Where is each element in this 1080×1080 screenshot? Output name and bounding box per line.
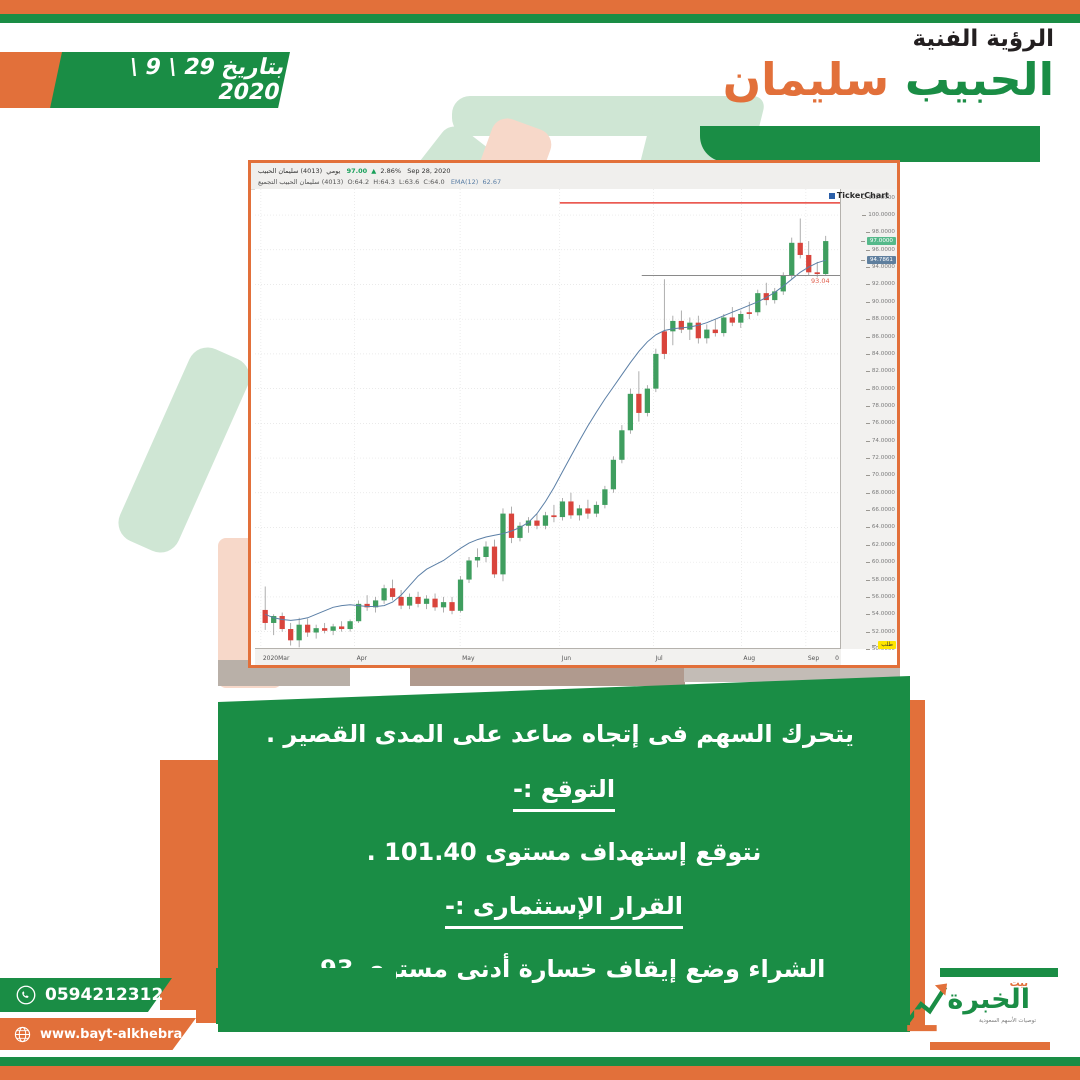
- date-tick: 2020Mar: [263, 655, 290, 662]
- analysis-label-decision-text: القرار الإستثمارى :-: [445, 892, 683, 929]
- brand-logo: بيت الخبرة توصيات الأسهم السعودية: [898, 972, 1058, 1058]
- chart-close: C:64.0: [423, 178, 444, 186]
- axis-corner-value: 0: [835, 655, 839, 662]
- price-tick: 52.0000: [872, 629, 895, 635]
- page-title: الرؤية الفنية الحبيب سليمان: [723, 28, 1054, 102]
- price-tick: 98.0000: [872, 229, 895, 235]
- chart-low: L:63.6: [399, 178, 419, 186]
- support-level-label: 93.04: [811, 277, 830, 285]
- footer-orange-divider: [196, 975, 218, 1023]
- chart-symbol-code: (4013): [301, 167, 323, 175]
- chart-info-row-primary: سليمان الحبيب (4013) يومي 97.00 ▲ 2.86% …: [258, 167, 451, 175]
- chart-ema-label: EMA(12): [451, 178, 479, 186]
- chart-plot-wrapper: TickerChart 93.04 102.0000100.000098.000…: [251, 189, 897, 665]
- header-name-first: سليمان: [723, 53, 889, 106]
- price-tick: 92.0000: [872, 281, 895, 287]
- date-tick: Jul: [655, 655, 662, 662]
- price-tick: 60.0000: [872, 559, 895, 565]
- poster-root: الرؤية الفنية الحبيب سليمان بتاريخ 29 \ …: [0, 0, 1080, 1080]
- price-tick: 68.0000: [872, 490, 895, 496]
- chart-last-price: 97.00: [347, 167, 368, 175]
- watermark-shape-green-slash: [112, 341, 256, 559]
- candlestick-svg: [255, 189, 841, 649]
- top-orange-rule: [0, 0, 1080, 14]
- price-tick: 58.0000: [872, 577, 895, 583]
- price-tick: 86.0000: [872, 334, 895, 340]
- analysis-line-trend: يتحرك السهم فى إتجاه صاعد على المدى القص…: [274, 720, 854, 749]
- analysis-label-forecast: التوقع :-: [274, 775, 854, 812]
- whatsapp-badge-content[interactable]: 0594212312: [16, 978, 163, 1012]
- chart-info-header: سليمان الحبيب (4013) يومي 97.00 ▲ 2.86% …: [251, 163, 897, 190]
- chart-info-row-ohlc: سليمان الحبيب التجميع (4013) O:64.2 H:64…: [258, 178, 501, 186]
- stock-chart-panel[interactable]: سليمان الحبيب (4013) يومي 97.00 ▲ 2.86% …: [248, 160, 900, 668]
- header-subtitle: الرؤية الفنية: [723, 28, 1054, 51]
- logo-subtitle: توصيات الأسهم السعودية: [979, 1018, 1036, 1024]
- bid-marker: طلب: [878, 641, 896, 649]
- price-tick: 56.0000: [872, 594, 895, 600]
- candlestick-plot-area[interactable]: 93.04: [255, 189, 841, 649]
- whatsapp-number: 0594212312: [45, 985, 163, 1005]
- chart-timeframe: يومي: [326, 167, 340, 175]
- tickerchart-label: TickerChart: [837, 191, 889, 200]
- date-badge-label: بتاريخ 29 \ 9 \ 2020: [66, 52, 288, 108]
- header-green-tab: [700, 126, 1040, 162]
- bottom-orange-rule: [0, 1066, 1080, 1080]
- price-tick: 94.0000: [872, 264, 895, 270]
- price-tick: 80.0000: [872, 386, 895, 392]
- chart-change-arrow-icon: ▲: [371, 167, 376, 175]
- price-tick: 70.0000: [872, 472, 895, 478]
- analysis-label-forecast-text: التوقع :-: [513, 775, 615, 812]
- whatsapp-icon: [16, 985, 36, 1005]
- header-name-second: الحبيب: [905, 53, 1054, 106]
- chart-symbol-name: سليمان الحبيب: [258, 167, 298, 175]
- price-tick: 82.0000: [872, 368, 895, 374]
- price-tick: 66.0000: [872, 507, 895, 513]
- website-badge-content[interactable]: www.bayt-alkhebra.org: [14, 1018, 212, 1050]
- tickerchart-square-icon: [829, 193, 835, 199]
- chart-quote-date: Sep 28, 2020: [407, 167, 450, 175]
- analysis-label-decision: القرار الإستثمارى :-: [274, 892, 854, 929]
- price-tick: 78.0000: [872, 403, 895, 409]
- growth-arrow-house-icon: [902, 978, 954, 1034]
- bottom-green-rule: [0, 1057, 1080, 1066]
- chart-high: H:64.3: [373, 178, 395, 186]
- date-tick: Sep: [808, 655, 819, 662]
- price-tick: 100.0000: [868, 212, 895, 218]
- date-axis[interactable]: 2020MarAprMayJunJulAugSep0: [255, 648, 841, 665]
- chart-ohlc-symbol-code: (4013): [322, 178, 344, 186]
- price-tick: 96.0000: [872, 247, 895, 253]
- tickerchart-logo: TickerChart: [829, 191, 889, 200]
- website-url: www.bayt-alkhebra.org: [40, 1027, 212, 1042]
- price-tick: 88.0000: [872, 316, 895, 322]
- price-tick: 54.0000: [872, 611, 895, 617]
- date-tick: May: [462, 655, 474, 662]
- price-axis[interactable]: 102.0000100.000098.000096.000094.000092.…: [840, 189, 897, 649]
- price-tick: 84.0000: [872, 351, 895, 357]
- price-tick: 76.0000: [872, 420, 895, 426]
- price-tick: 72.0000: [872, 455, 895, 461]
- chart-ema-value: 62.67: [482, 178, 501, 186]
- price-tick: 74.0000: [872, 438, 895, 444]
- price-tick: 90.0000: [872, 299, 895, 305]
- current-price-marker: 97.0000: [867, 237, 896, 245]
- chart-ohlc-symbol-name: سليمان الحبيب التجميع: [258, 178, 320, 186]
- logo-orange-rule: [930, 1042, 1050, 1050]
- top-green-rule: [0, 14, 1080, 23]
- date-tick: Apr: [357, 655, 367, 662]
- header-company-name: الحبيب سليمان: [723, 57, 1054, 102]
- chart-change-pct: 2.86%: [380, 167, 401, 175]
- chart-open: O:64.2: [347, 178, 369, 186]
- logo-main-text: الخبرة: [947, 986, 1030, 1013]
- date-tick: Aug: [743, 655, 755, 662]
- price-tick: 62.0000: [872, 542, 895, 548]
- logo-green-rule: [940, 968, 1058, 977]
- price-tick: 64.0000: [872, 524, 895, 530]
- footer-green-block: [216, 968, 396, 1024]
- globe-icon: [14, 1026, 31, 1043]
- ema-price-marker: 94.7861: [867, 256, 896, 264]
- analysis-line-forecast: نتوقع إستهداف مستوى 101.40 .: [274, 838, 854, 867]
- date-tick: Jun: [562, 655, 571, 662]
